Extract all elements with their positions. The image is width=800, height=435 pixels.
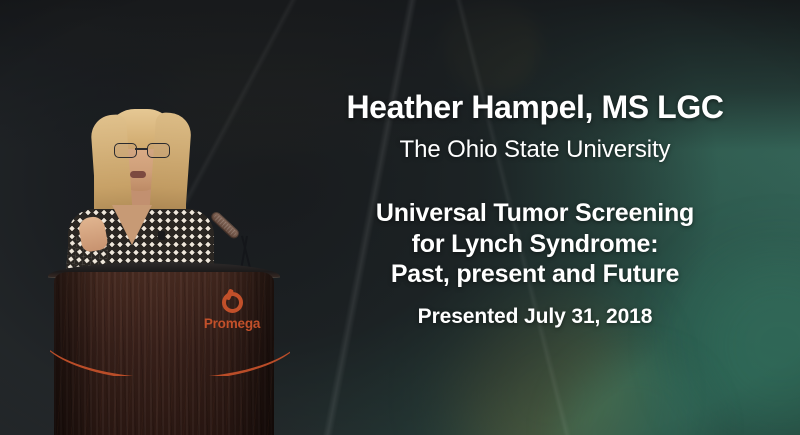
podium-accent-stripe — [50, 350, 290, 376]
glasses-bridge — [135, 148, 147, 150]
speaker-mouth — [130, 171, 146, 178]
glasses-icon — [113, 143, 169, 156]
microphone-icon — [214, 208, 284, 270]
podium-body: Promega — [54, 272, 274, 435]
speaker-affiliation: The Ohio State University — [300, 136, 770, 164]
microphone-head — [209, 210, 241, 241]
glasses-lens-right — [147, 143, 170, 158]
title-block: Heather Hampel, MS LGC The Ohio State Un… — [300, 0, 770, 435]
speaker-name: Heather Hampel, MS LGC — [300, 90, 770, 125]
presentation-topic: Universal Tumor Screening for Lynch Synd… — [300, 198, 770, 290]
topic-line-1: Universal Tumor Screening — [300, 198, 770, 229]
topic-line-2: for Lynch Syndrome: — [300, 229, 770, 260]
promega-mark-icon — [222, 292, 243, 313]
topic-line-3: Past, present and Future — [300, 259, 770, 290]
presented-date: Presented July 31, 2018 — [300, 305, 770, 329]
glasses-lens-left — [114, 143, 137, 158]
lapel-mic-icon — [158, 231, 165, 240]
promega-logo: Promega — [190, 292, 274, 331]
speaker-vneck — [112, 205, 152, 245]
podium: Promega — [48, 262, 280, 435]
promega-wordmark: Promega — [190, 316, 274, 331]
webinar-title-card: Promega Heather Hampel, MS LGC The Ohio … — [0, 0, 800, 435]
